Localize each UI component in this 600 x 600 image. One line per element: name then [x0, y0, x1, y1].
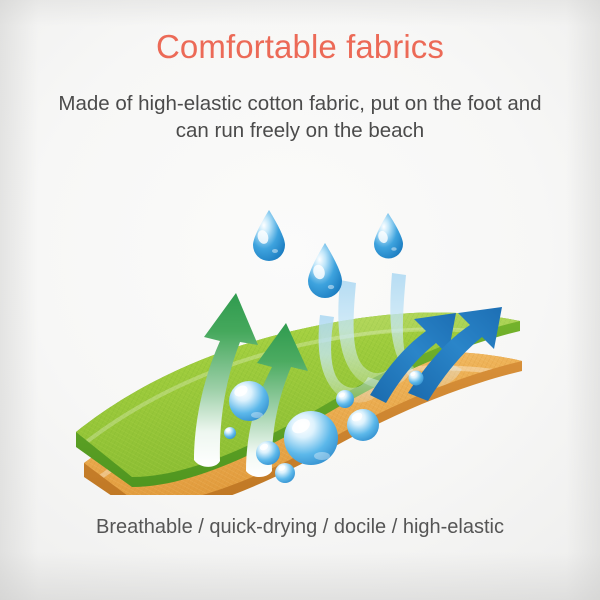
water-bead	[224, 427, 236, 439]
water-bead	[409, 371, 424, 386]
feature-caption: Breathable / quick-drying / docile / hig…	[0, 514, 600, 540]
water-bead	[275, 463, 295, 483]
water-droplet-falling	[308, 243, 342, 298]
water-bead	[229, 381, 269, 421]
page-title: Comfortable fabrics	[0, 27, 600, 67]
fabric-technology-illustration	[70, 185, 530, 495]
subtitle: Made of high-elastic cotton fabric, put …	[26, 90, 574, 144]
water-bead	[336, 390, 354, 408]
top-mesh-layer	[70, 295, 530, 495]
water-droplet-falling	[374, 213, 403, 259]
water-bead	[347, 409, 379, 441]
subtitle-line-2: can run freely on the beach	[26, 117, 574, 144]
water-bead	[284, 411, 338, 465]
product-feature-slide: Comfortable fabrics Made of high-elastic…	[0, 0, 600, 600]
water-bead	[256, 441, 280, 465]
subtitle-line-1: Made of high-elastic cotton fabric, put …	[26, 90, 574, 117]
water-droplet-falling	[253, 210, 285, 261]
